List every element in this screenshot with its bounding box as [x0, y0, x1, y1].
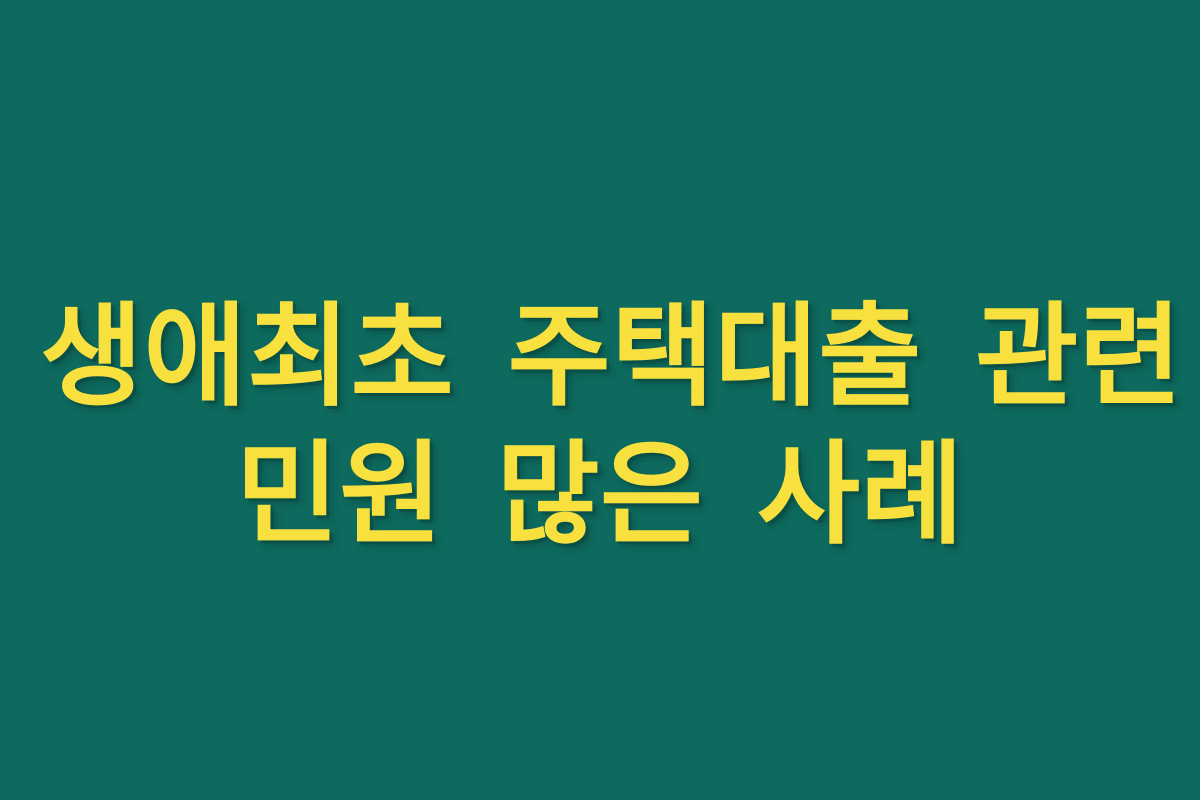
poster-canvas: 생애최초 주택대출 관련 민원 많은 사례: [0, 0, 1200, 800]
headline-line-1: 생애최초 주택대출 관련: [40, 288, 1160, 426]
headline-block: 생애최초 주택대출 관련 민원 많은 사례: [0, 288, 1200, 564]
headline-line-2: 민원 많은 사례: [40, 426, 1160, 564]
